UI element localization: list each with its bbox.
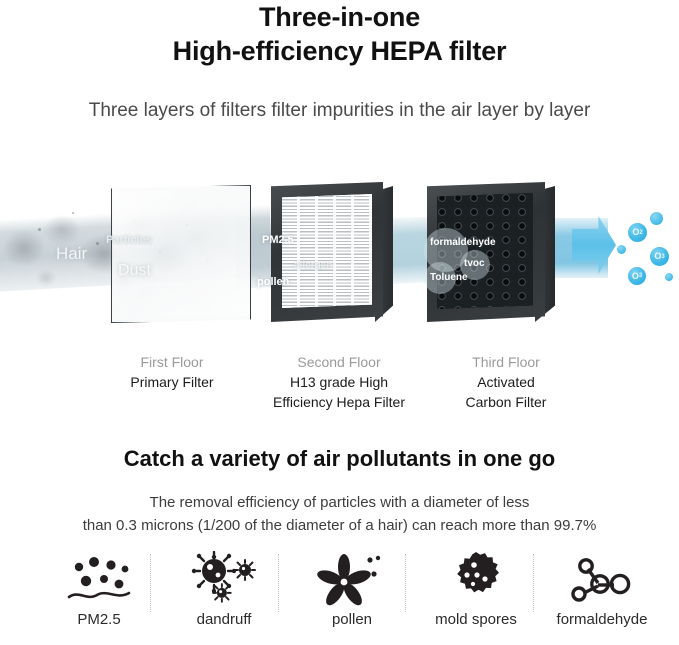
page-subtitle: Three layers of filters filter impuritie… — [0, 98, 679, 124]
formaldehyde-molecule-icon — [538, 548, 666, 610]
section-heading: Catch a variety of air pollutants in one… — [0, 446, 679, 472]
stage2-label-allergen: allergen — [294, 260, 332, 271]
caption-floor: Second Floor — [268, 352, 410, 372]
pollutant-label: formaldehyde — [538, 610, 666, 630]
stage3-label-formaldehyde: formaldehyde — [430, 237, 496, 248]
filter-diagram: Hair Particles Dust PM2.5 allergen polle… — [0, 150, 679, 350]
pollutant-item-formaldehyde: formaldehyde — [538, 548, 666, 630]
filter-layer-1-primary — [111, 185, 251, 323]
pollutant-label: PM2.5 — [35, 610, 163, 630]
caption-floor: First Floor — [102, 352, 242, 372]
layer-captions: First Floor Primary Filter Second Floor … — [0, 352, 679, 422]
infographic-page: Three-in-one High-efficiency HEPA filter… — [0, 0, 679, 645]
description-line-1: The removal efficiency of particles with… — [0, 491, 679, 514]
output-bubble-small — [665, 273, 673, 281]
bubble-sub: 3 — [661, 254, 664, 260]
pollutant-label: mold spores — [412, 610, 540, 630]
output-bubble-o3-b: O3 — [628, 267, 646, 285]
output-bubble-small — [617, 245, 626, 254]
bubble-sub: 2 — [639, 230, 642, 236]
pollutant-item-pm25: PM2.5 — [35, 548, 163, 630]
stage2-label-pollen: pollen — [257, 276, 289, 288]
pollutant-icon-row: PM2.5 — [0, 548, 679, 645]
stage2-label-pm25: PM2.5 — [262, 234, 294, 246]
stage3-label-tvoc: tvoc — [464, 258, 485, 269]
mold-spore-icon — [412, 548, 540, 610]
bubble-sub: 3 — [639, 273, 642, 279]
dust-speck — [38, 228, 41, 231]
output-bubble-small — [650, 212, 663, 225]
bubble-text: O — [654, 252, 661, 261]
caption-layer-1: First Floor Primary Filter — [102, 352, 242, 392]
output-bubble-o3-a: O3 — [650, 247, 669, 266]
caption-name-2: Efficiency Hepa Filter — [268, 392, 410, 412]
filter-1-sheen — [113, 189, 249, 319]
pollutant-item-dandruff: dandruff — [160, 548, 288, 630]
section-description: The removal efficiency of particles with… — [0, 491, 679, 537]
caption-floor: Third Floor — [436, 352, 576, 372]
pollutant-item-mold-spores: mold spores — [412, 548, 540, 630]
description-line-2: than 0.3 microns (1/200 of the diameter … — [0, 514, 679, 537]
pollutant-label: dandruff — [160, 610, 288, 630]
pollutant-item-pollen: pollen — [288, 548, 416, 630]
page-title: Three-in-one High-efficiency HEPA filter — [0, 0, 679, 68]
caption-name: H13 grade High — [268, 372, 410, 392]
caption-name: Primary Filter — [102, 372, 242, 392]
airflow-output-arrow — [572, 216, 616, 274]
pollen-flower-icon — [288, 548, 416, 610]
bubble-text: O — [632, 228, 639, 237]
caption-name: Activated — [436, 372, 576, 392]
stage3-label-toluene: Toluene — [430, 272, 468, 283]
inflow-label-hair: Hair — [56, 244, 87, 264]
dandruff-virus-icon — [160, 548, 288, 610]
bubble-text: O — [632, 272, 639, 281]
particles-dots-icon — [35, 548, 163, 610]
filter-layer-2-hepa — [271, 182, 383, 322]
caption-layer-2: Second Floor H13 grade High Efficiency H… — [268, 352, 410, 412]
dust-speck — [72, 212, 74, 214]
inflow-label-particles: Particles — [106, 234, 152, 246]
title-line-2: High-efficiency HEPA filter — [0, 34, 679, 68]
inflow-label-dust: Dust — [118, 262, 151, 280]
pollutant-label: pollen — [288, 610, 416, 630]
caption-name-2: Carbon Filter — [436, 392, 576, 412]
title-line-1: Three-in-one — [0, 0, 679, 34]
filter-2-pleat-seams — [282, 194, 372, 308]
output-bubble-o2: O2 — [628, 223, 647, 242]
caption-layer-3: Third Floor Activated Carbon Filter — [436, 352, 576, 412]
dust-speck — [96, 242, 99, 245]
